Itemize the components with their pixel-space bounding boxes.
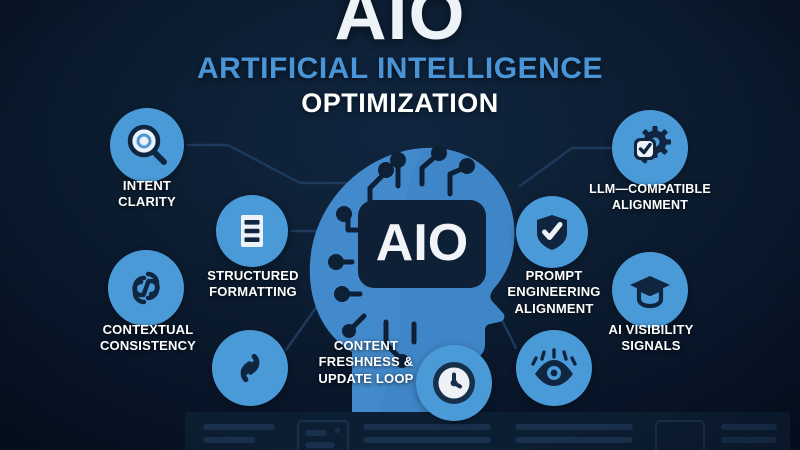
clock-refresh-icon (416, 345, 492, 421)
node-label-contextual-consistency: CONTEXTUAL CONSISTENCY (82, 322, 214, 355)
infographic-canvas: AIO AIO ARTIFICIAL INTELLIGENCE OPTIMIZA… (0, 0, 800, 450)
shield-check-icon (516, 196, 588, 268)
ghost-line (515, 437, 633, 443)
bottom-placeholder-panel (185, 412, 790, 450)
node-label-prompt-engineering: PROMPT ENGINEERING ALIGNMENT (492, 268, 616, 317)
target-magnifier-icon (110, 108, 184, 182)
ghost-line (203, 437, 255, 443)
title-line-2: OPTIMIZATION (0, 88, 800, 119)
node-label-llm-compatible: LLM—COMPATIBLE ALIGNMENT (572, 182, 728, 213)
node-label-content-freshness: CONTENT FRESHNESS & UPDATE LOOP (308, 338, 424, 387)
ghost-line (721, 424, 777, 430)
chain-link-icon (108, 250, 184, 326)
ghost-line (203, 424, 275, 430)
ghost-line (363, 424, 491, 430)
ghost-line (363, 437, 491, 443)
chain-link-icon (212, 330, 288, 406)
ghost-line (721, 437, 777, 443)
ghost-line (305, 442, 335, 448)
node-label-structured-formatting: STRUCTURED FORMATTING (186, 268, 320, 301)
ghost-line (515, 424, 633, 430)
eye-icon (516, 330, 592, 406)
node-label-ai-visibility: AI VISIBILITY SIGNALS (588, 322, 714, 355)
ghost-dot (335, 428, 340, 433)
node-label-intent-clarity: INTENT CLARITY (86, 178, 208, 211)
title-acronym: AIO (0, 0, 800, 56)
title-line-1: ARTIFICIAL INTELLIGENCE (0, 52, 800, 86)
graduation-cap-icon (612, 252, 688, 328)
ghost-line (305, 430, 327, 436)
document-lines-icon (216, 195, 288, 267)
gear-checkbox-icon (612, 110, 688, 186)
center-chip-label: AIO (376, 214, 468, 272)
ghost-card (655, 420, 705, 450)
